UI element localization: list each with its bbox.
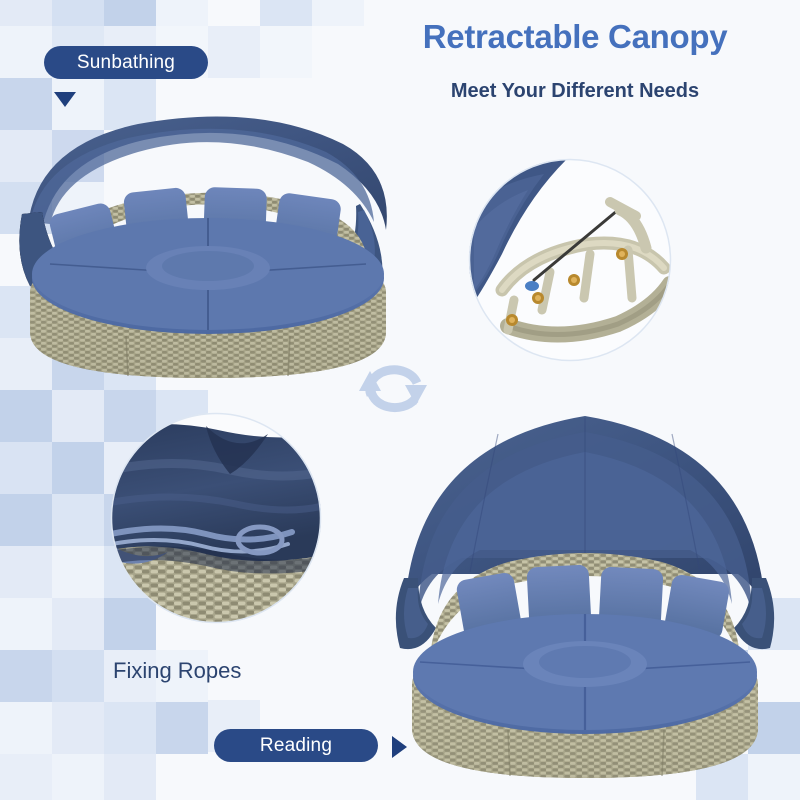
mosaic-tile <box>52 442 104 494</box>
mosaic-tile <box>208 26 260 78</box>
mosaic-tile <box>260 0 312 26</box>
triangle-right-icon <box>392 736 407 758</box>
mosaic-tile <box>0 546 52 598</box>
mosaic-tile <box>52 650 104 702</box>
mosaic-tile <box>52 598 104 650</box>
mosaic-tile <box>104 754 156 800</box>
mosaic-tile <box>104 598 156 650</box>
mosaic-tile <box>312 0 364 26</box>
inset-fixing-ropes-detail <box>110 412 322 624</box>
mosaic-tile <box>0 494 52 546</box>
mosaic-tile <box>0 754 52 800</box>
mosaic-tile <box>52 702 104 754</box>
mosaic-tile <box>0 650 52 702</box>
mosaic-tile <box>260 26 312 78</box>
mosaic-tile <box>52 0 104 26</box>
badge-reading-label: Reading <box>260 735 332 757</box>
triangle-down-icon <box>54 92 76 107</box>
mosaic-tile <box>52 390 104 442</box>
mosaic-tile <box>52 546 104 598</box>
mosaic-tile <box>0 390 52 442</box>
mosaic-tile <box>104 0 156 26</box>
mosaic-tile <box>104 702 156 754</box>
mosaic-tile <box>104 390 156 442</box>
page-subtitle: Meet Your Different Needs <box>360 80 790 103</box>
circular-refresh-arrows-icon <box>355 355 431 419</box>
inset-canopy-frame-detail <box>468 158 672 362</box>
caption-fixing-ropes: Fixing Ropes <box>113 658 241 684</box>
mosaic-tile <box>156 702 208 754</box>
mosaic-tile <box>0 0 52 26</box>
mosaic-tile <box>0 26 52 78</box>
mosaic-tile <box>52 754 104 800</box>
mosaic-tile <box>0 598 52 650</box>
product-photo-canopy-extended <box>378 398 792 786</box>
page-title: Retractable Canopy <box>360 18 790 56</box>
mosaic-tile <box>0 702 52 754</box>
mosaic-tile <box>52 494 104 546</box>
product-photo-canopy-retracted <box>8 96 408 386</box>
mosaic-tile <box>156 0 208 26</box>
mosaic-tile <box>0 442 52 494</box>
badge-reading[interactable]: Reading <box>214 729 378 762</box>
badge-sunbathing-label: Sunbathing <box>77 52 175 74</box>
badge-sunbathing[interactable]: Sunbathing <box>44 46 208 79</box>
